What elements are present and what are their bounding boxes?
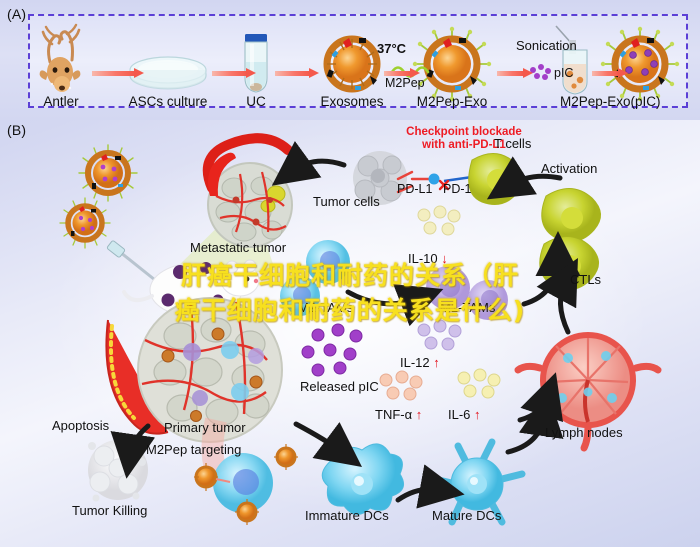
label-tumor-killing: Tumor Killing bbox=[72, 503, 147, 518]
label-tnf-alpha: TNF-α ↑ bbox=[375, 407, 422, 422]
label-metastatic-tumor: Metastatic tumor bbox=[190, 240, 286, 255]
label-m2-tams: M2-TAMs bbox=[298, 300, 353, 315]
panel-b-letter: (B) bbox=[7, 122, 26, 138]
label-pd-1: PD-1 bbox=[443, 182, 471, 196]
arrow-m2pep-exo-to-sonication bbox=[497, 68, 533, 79]
label-t-cells: T cells bbox=[494, 136, 531, 151]
label-primary-tumor: Primary tumor bbox=[164, 420, 246, 435]
tnf-alpha-name: TNF-α bbox=[375, 407, 412, 422]
il-12-arrow-icon: ↑ bbox=[433, 355, 440, 370]
annotation-temperature: 37°C bbox=[377, 41, 406, 56]
il-10-arrow-icon: ↓ bbox=[441, 251, 448, 266]
label-il-12: IL-12 ↑ bbox=[400, 355, 440, 370]
label-m2pep-targeting: M2Pep targeting bbox=[146, 442, 241, 457]
label-m1-tams: M1-TAMs bbox=[440, 300, 495, 315]
figure-canvas: (A) bbox=[0, 0, 700, 547]
panel-a-letter: (A) bbox=[7, 6, 26, 22]
label-ctls: CTLs bbox=[570, 272, 601, 287]
label-mature-dcs: Mature DCs bbox=[432, 508, 501, 523]
arrow-antler-to-ascs bbox=[92, 68, 144, 79]
label-pd-l1: PD-L1 bbox=[397, 182, 432, 196]
annotation-m2pep: M2Pep bbox=[385, 76, 425, 90]
label-apoptosis: Apoptosis bbox=[52, 418, 109, 433]
step-label-ascs: ASCs culture bbox=[120, 94, 216, 109]
step-label-m2pep-exo-pic: M2Pep-Exo(pIC) bbox=[560, 94, 700, 109]
step-label-uc: UC bbox=[238, 94, 274, 109]
label-il-10: IL-10 ↓ bbox=[408, 251, 448, 266]
annotation-pic: pIC bbox=[554, 66, 573, 80]
label-immature-dcs: Immature DCs bbox=[305, 508, 389, 523]
step-label-m2pep-exo: M2Pep-Exo bbox=[400, 94, 504, 109]
tnf-alpha-arrow-icon: ↑ bbox=[416, 407, 423, 422]
label-il-6: IL-6 ↑ bbox=[448, 407, 481, 422]
label-tumor-cells: Tumor cells bbox=[313, 194, 380, 209]
annotation-sonication: Sonication bbox=[516, 38, 577, 53]
label-lymph-nodes: Lymph nodes bbox=[545, 425, 623, 440]
step-label-antler: Antler bbox=[36, 94, 86, 109]
panel-b: (B) bbox=[0, 120, 700, 547]
label-released-pic: Released pIC bbox=[300, 379, 379, 394]
panel-a: (A) bbox=[0, 0, 700, 120]
arrow-uc-to-exosomes bbox=[275, 68, 319, 79]
il-12-name: IL-12 bbox=[400, 355, 430, 370]
arrow-ascs-to-uc bbox=[212, 68, 256, 79]
step-label-exosomes: Exosomes bbox=[310, 94, 394, 109]
label-activation: Activation bbox=[541, 161, 597, 176]
arrow-sonication-to-pic-exo bbox=[592, 68, 628, 79]
il-10-name: IL-10 bbox=[408, 251, 438, 266]
il-6-arrow-icon: ↑ bbox=[474, 407, 481, 422]
il-6-name: IL-6 bbox=[448, 407, 470, 422]
